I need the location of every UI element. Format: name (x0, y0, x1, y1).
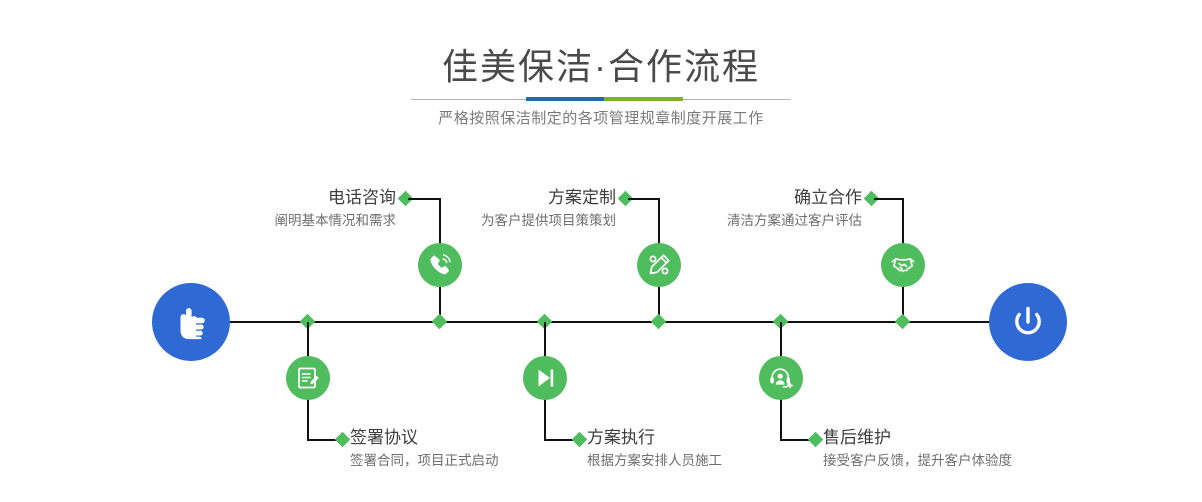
step-node-5[interactable] (881, 243, 925, 287)
end-node[interactable] (989, 283, 1067, 361)
step-desc-1: 阐明基本情况和需求 (150, 211, 396, 231)
document-edit-icon (294, 364, 322, 392)
step-node-3[interactable] (637, 243, 681, 287)
step-marker-5-axis (895, 314, 911, 330)
step-label-5: 确立合作 清洁方案通过客户评估 (616, 188, 862, 231)
step-marker-6-label (808, 432, 824, 448)
step-desc-4: 根据方案安排人员施工 (587, 451, 722, 471)
step-node-4[interactable] (523, 356, 567, 400)
step-title-1: 电话咨询 (150, 188, 396, 208)
step-node-1[interactable] (418, 243, 462, 287)
step-node-2[interactable] (286, 356, 330, 400)
step-label-1: 电话咨询 阐明基本情况和需求 (150, 188, 396, 231)
process-flow-diagram: 电话咨询 阐明基本情况和需求 签署协议 签署 (0, 0, 1202, 502)
start-node[interactable] (152, 283, 230, 361)
pointing-hand-icon (171, 302, 211, 342)
step-label-3: 方案定制 为客户提供项目策策划 (370, 188, 616, 231)
step-marker-1-axis (432, 314, 448, 330)
step-marker-2-label (335, 432, 351, 448)
step-title-4: 方案执行 (587, 428, 722, 448)
play-next-icon (531, 364, 559, 392)
handshake-icon (889, 251, 917, 279)
step-label-4: 方案执行 根据方案安排人员施工 (587, 428, 722, 471)
step-desc-2: 签署合同，项目正式启动 (350, 451, 499, 471)
step-label-2: 签署协议 签署合同，项目正式启动 (350, 428, 499, 471)
power-icon (1006, 300, 1050, 344)
step-node-6[interactable] (759, 356, 803, 400)
step-title-6: 售后维护 (823, 428, 1012, 448)
step-desc-5: 清洁方案通过客户评估 (616, 211, 862, 231)
step-title-3: 方案定制 (370, 188, 616, 208)
step-desc-6: 接受客户反馈，提升客户体验度 (823, 451, 1012, 471)
customer-service-icon (767, 364, 795, 392)
step-desc-3: 为客户提供项目策策划 (370, 211, 616, 231)
step-connector-5-h (874, 198, 904, 200)
step-label-6: 售后维护 接受客户反馈，提升客户体验度 (823, 428, 1012, 471)
pencil-ruler-icon (645, 251, 673, 279)
step-marker-4-label (572, 432, 588, 448)
step-title-5: 确立合作 (616, 188, 862, 208)
phone-call-icon (426, 251, 454, 279)
step-title-2: 签署协议 (350, 428, 499, 448)
step-marker-3-axis (651, 314, 667, 330)
